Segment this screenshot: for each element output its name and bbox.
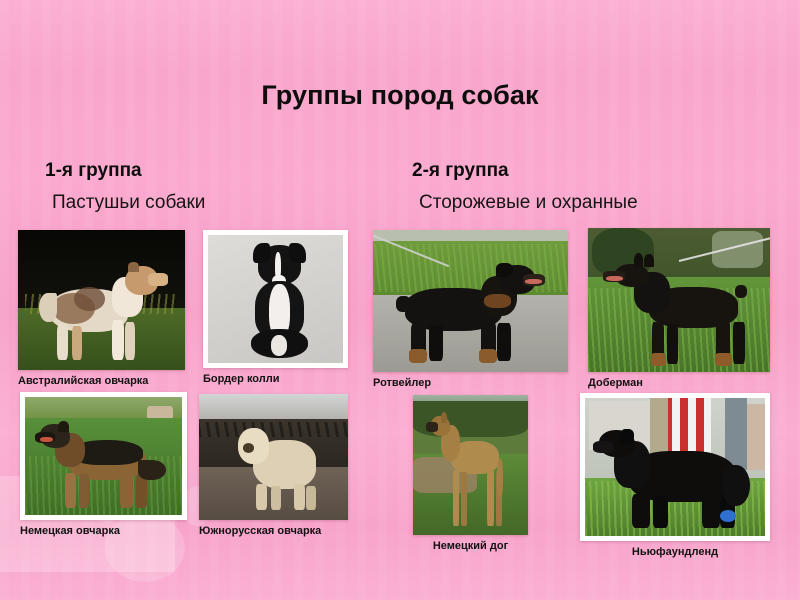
group-2-number: 2-я группа (412, 160, 638, 182)
caption-newfoundland: Ньюфаундленд (580, 545, 770, 559)
group-1-number: 1-я группа (45, 160, 205, 182)
group-heading-1: 1-я группа Пастушьи собаки (45, 160, 205, 214)
photo-newfoundland (580, 393, 770, 541)
photo-doberman (588, 228, 770, 372)
photo-card-doberman: Доберман (588, 228, 770, 390)
photo-south-russian-shepherd (199, 394, 348, 520)
photo-german-shepherd (20, 392, 187, 520)
photo-card-border-collie: Бордер колли (203, 230, 348, 386)
presentation-slide: Группы пород собак 1-я группа Пастушьи с… (0, 0, 800, 600)
group-heading-2: 2-я группа Сторожевые и охранные (412, 160, 638, 214)
photo-rottweiler (373, 230, 568, 372)
photo-australian-shepherd (18, 230, 185, 370)
page-title: Группы пород собак (0, 80, 800, 111)
group-1-name: Пастушьи собаки (52, 192, 205, 214)
photo-card-south-russian-shepherd: Южнорусская овчарка (199, 394, 348, 538)
photo-card-rottweiler: Ротвейлер (373, 230, 568, 390)
photo-card-german-shepherd: Немецкая овчарка (20, 392, 187, 538)
photo-card-newfoundland: Ньюфаундленд (580, 393, 770, 559)
group-2-name: Сторожевые и охранные (419, 192, 638, 214)
caption-german-shepherd: Немецкая овчарка (20, 524, 187, 538)
caption-great-dane: Немецкий дог (413, 539, 528, 553)
caption-south-russian-shepherd: Южнорусская овчарка (199, 524, 348, 538)
photo-card-australian-shepherd: Австралийская овчарка (18, 230, 185, 388)
photo-great-dane (413, 395, 528, 535)
caption-doberman: Доберман (588, 376, 770, 390)
caption-australian-shepherd: Австралийская овчарка (18, 374, 185, 388)
caption-rottweiler: Ротвейлер (373, 376, 568, 390)
photo-border-collie (203, 230, 348, 368)
photo-card-great-dane: Немецкий дог (413, 395, 528, 553)
caption-border-collie: Бордер колли (203, 372, 348, 386)
